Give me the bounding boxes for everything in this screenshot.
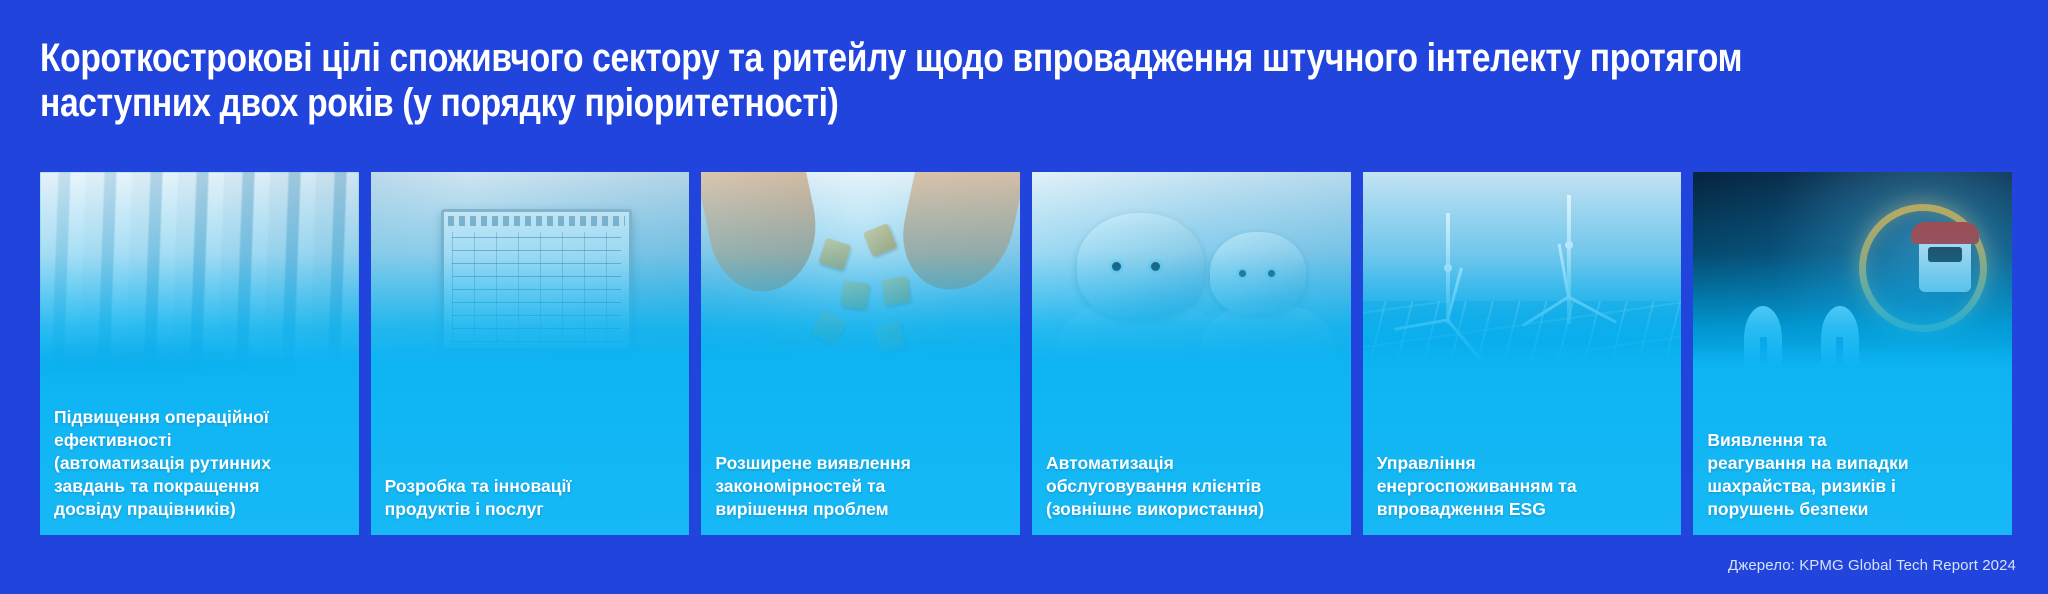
priority-card-1[interactable]: Підвищення операційної ефективності (авт… [40, 172, 359, 535]
priority-card-5[interactable]: Управління енергоспоживанням та впровадж… [1363, 172, 1682, 535]
card-strip: Підвищення операційної ефективності (авт… [40, 172, 2012, 535]
priority-card-4[interactable]: Автоматизація обслуговування клієнтів (з… [1032, 172, 1351, 535]
infographic-root: Короткострокові цілі споживчого сектору … [0, 0, 2048, 594]
card-label-5: Управління енергоспоживанням та впровадж… [1377, 452, 1672, 521]
priority-card-3[interactable]: Розширене виявлення закономірностей та в… [701, 172, 1020, 535]
card-label-4: Автоматизація обслуговування клієнтів (з… [1046, 452, 1341, 521]
card-label-6: Виявлення та реагування на випадки шахра… [1707, 429, 2002, 521]
card-label-2: Розробка та інновації продуктів і послуг [385, 475, 680, 521]
page-title-line-2: наступних двох років (у порядку пріорите… [40, 81, 1693, 126]
priority-card-2[interactable]: Розробка та інновації продуктів і послуг [371, 172, 690, 535]
page-title: Короткострокові цілі споживчого сектору … [40, 36, 2008, 126]
page-title-line-1: Короткострокові цілі споживчого сектору … [40, 36, 1693, 81]
card-label-1: Підвищення операційної ефективності (авт… [54, 406, 349, 521]
source-attribution: Джерело: KPMG Global Tech Report 2024 [1728, 557, 2016, 574]
card-label-3: Розширене виявлення закономірностей та в… [715, 452, 1010, 521]
priority-card-6[interactable]: Виявлення та реагування на випадки шахра… [1693, 172, 2012, 535]
